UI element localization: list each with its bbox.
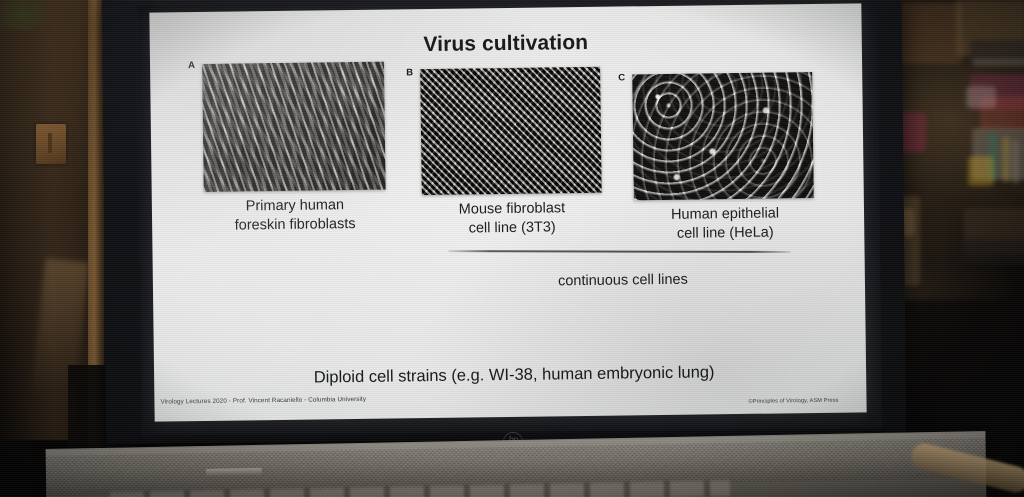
micrograph-panel-c (632, 72, 814, 200)
photo-scene: hp Virus cultivation A Primary human for… (0, 0, 1024, 497)
diploid-cell-strains-label: Diploid cell strains (e.g. WI-38, human … (214, 362, 814, 389)
bracket-line (449, 250, 791, 252)
micrograph-panel-b (420, 67, 602, 195)
micrograph-panel-a (202, 62, 386, 192)
panel-label-b: B (406, 67, 413, 78)
laptop-screen: Virus cultivation A Primary human foresk… (149, 3, 866, 421)
slide-title: Virus cultivation (150, 27, 862, 60)
lecture-slide: Virus cultivation A Primary human foresk… (149, 3, 866, 421)
micrograph-image-c (632, 72, 814, 200)
slide-footer-attribution: Virology Lectures 2020 - Prof. Vincent R… (160, 396, 366, 406)
panel-caption-b: Mouse fibroblast cell line (3T3) (404, 199, 620, 240)
plant-foliage (0, 0, 52, 30)
micrograph-image-b (420, 67, 602, 195)
panel-caption-c: Human epithelial cell line (HeLa) (622, 204, 828, 245)
micrograph-image-a (202, 62, 386, 192)
base-latch (206, 468, 262, 476)
slide-footer-copyright: ©Principles of Virology, ASM Press (748, 398, 838, 405)
light-switch-toggle (48, 133, 52, 153)
continuous-cell-lines-label: continuous cell lines (453, 270, 793, 290)
panel-label-a: A (188, 60, 195, 71)
panel-caption-a: Primary human foreskin fibroblasts (184, 195, 406, 236)
panel-label-c: C (618, 72, 625, 83)
